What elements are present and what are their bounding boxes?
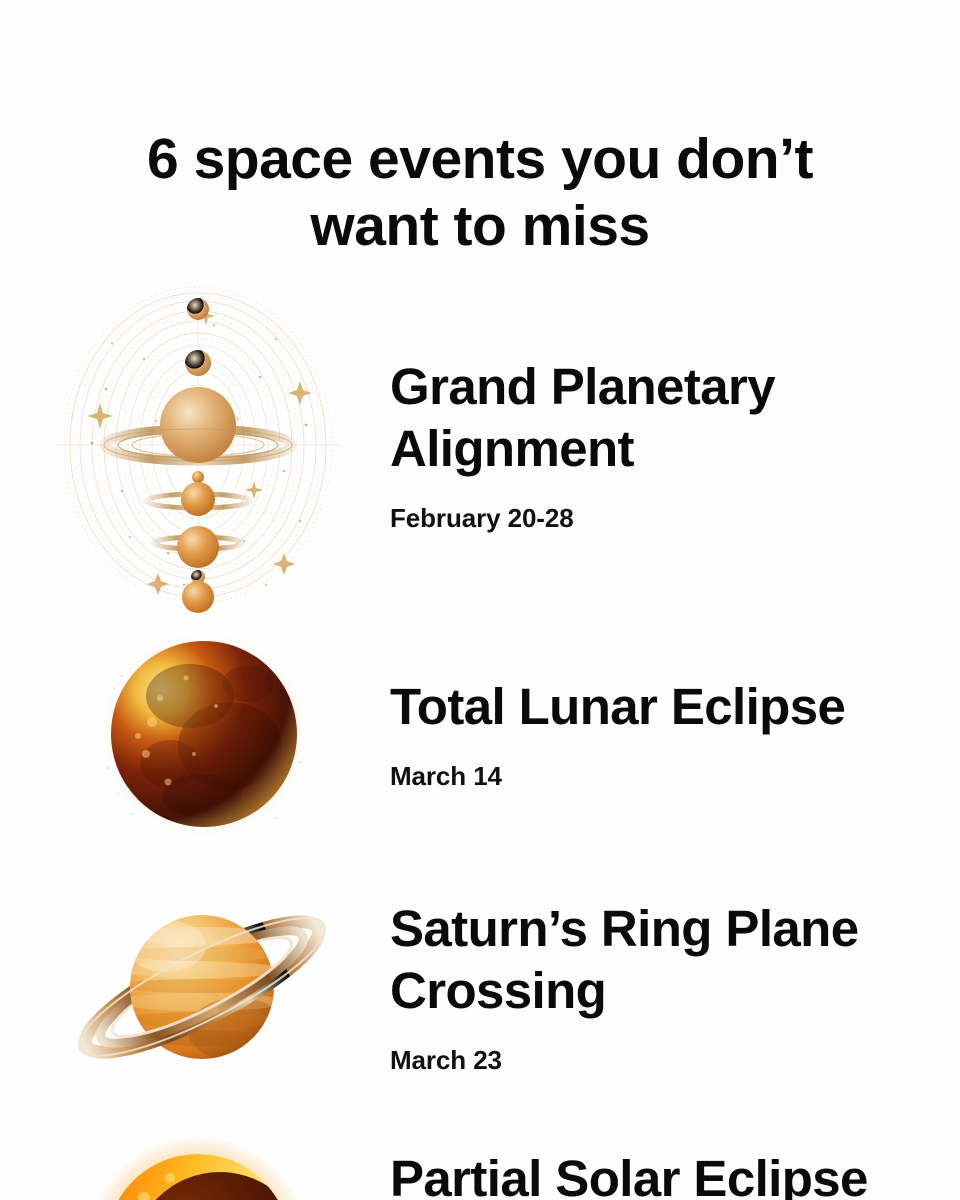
infographic-page: 6 space events you don’t want to miss [0, 0, 960, 1200]
event-date: February 20-28 [390, 503, 960, 534]
event-title: Grand Planetary Alignment [390, 356, 960, 478]
saturn-with-rings-illustration [62, 880, 342, 1094]
page-title: 6 space events you don’t want to miss [0, 126, 960, 261]
blood-moon-illustration [98, 636, 310, 832]
event-row: Saturn’s Ring Plane Crossing March 23 [0, 880, 960, 1094]
event-row: Partial Solar Eclipse [0, 1142, 960, 1200]
event-row: Total Lunar Eclipse March 14 [0, 636, 960, 832]
planetary-alignment-orrery-illustration [48, 285, 348, 605]
event-title: Saturn’s Ring Plane Crossing [390, 898, 960, 1020]
event-text-block: Grand Planetary Alignment February 20-28 [390, 356, 960, 533]
event-date: March 14 [390, 761, 960, 792]
event-text-block: Saturn’s Ring Plane Crossing March 23 [390, 898, 960, 1075]
partial-solar-eclipse-illustration [86, 1142, 326, 1200]
event-text-block: Total Lunar Eclipse March 14 [390, 676, 960, 792]
event-title: Total Lunar Eclipse [390, 676, 960, 737]
event-row: Grand Planetary Alignment February 20-28 [0, 285, 960, 605]
event-text-block: Partial Solar Eclipse [390, 1142, 960, 1200]
event-date: March 23 [390, 1045, 960, 1076]
event-title: Partial Solar Eclipse [390, 1148, 960, 1200]
